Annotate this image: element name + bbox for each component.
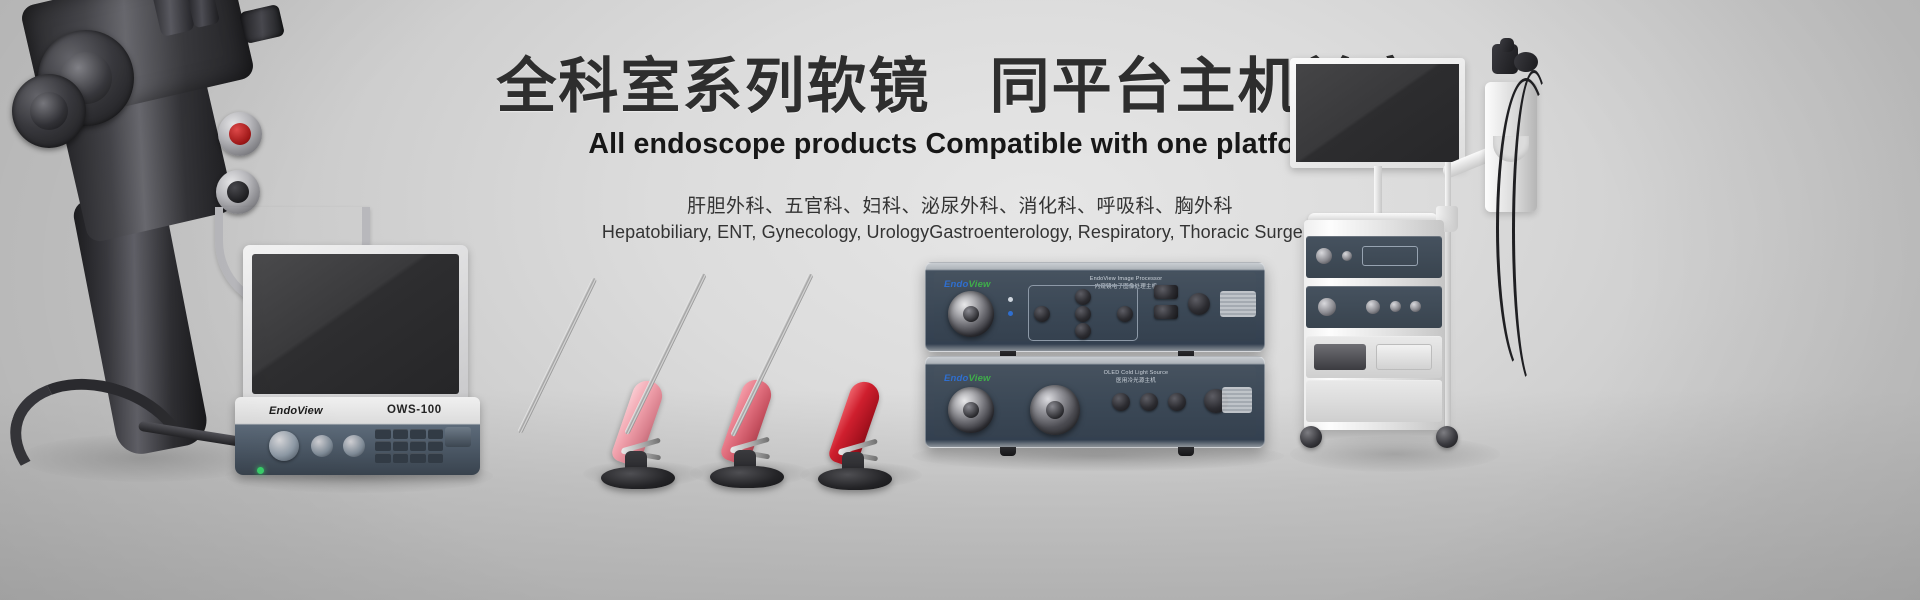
vignette-overlay xyxy=(0,0,1920,600)
product-banner: 全科室系列软镜 同平台主机兼容 All endoscope products C… xyxy=(0,0,1920,600)
